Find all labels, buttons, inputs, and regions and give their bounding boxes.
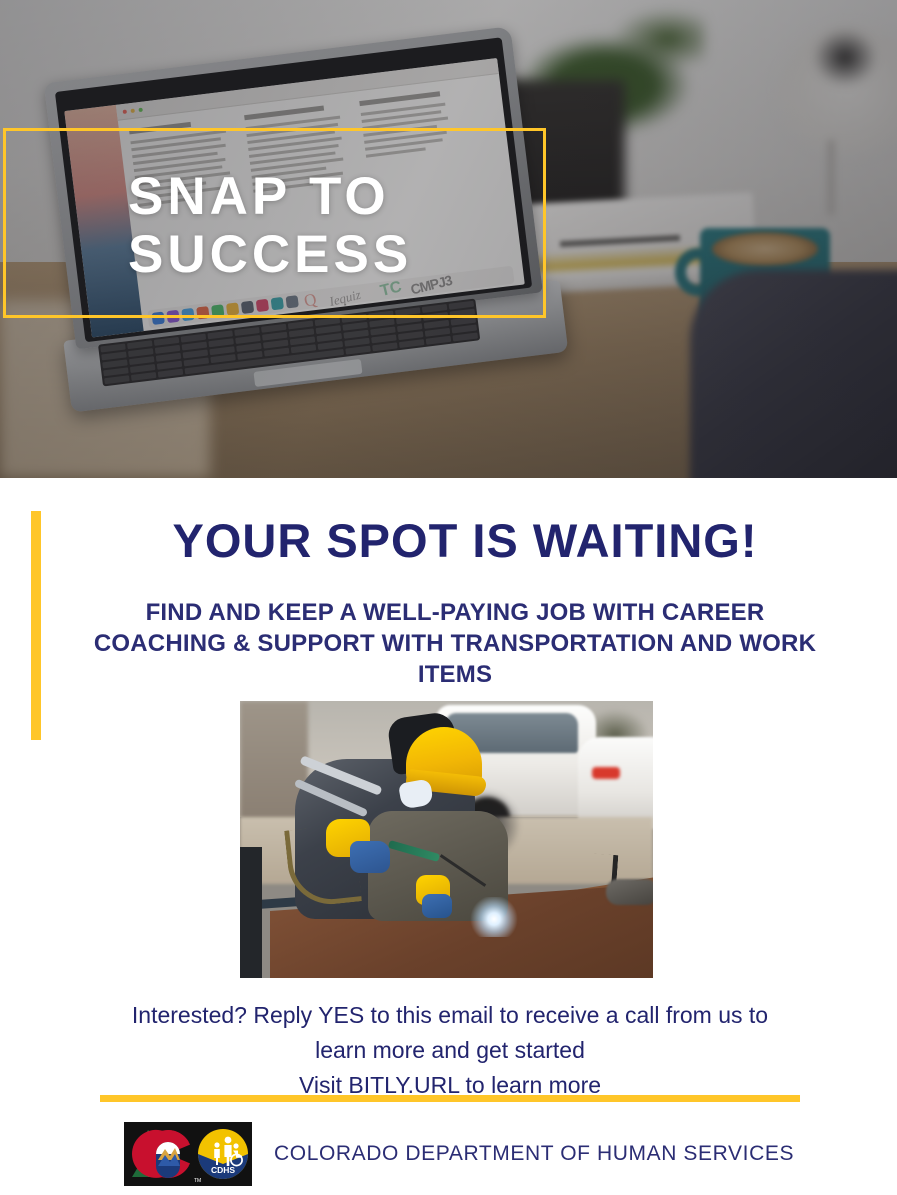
yellow-accent-bar bbox=[31, 511, 41, 740]
welder-photo bbox=[240, 701, 653, 978]
agency-name: COLORADO DEPARTMENT OF HUMAN SERVICES bbox=[274, 1142, 794, 1166]
cdhs-logo: TM CDHS bbox=[124, 1122, 252, 1186]
cdhs-logo-text: CDHS bbox=[211, 1165, 235, 1175]
call-to-action: Interested? Reply YES to this email to r… bbox=[75, 998, 825, 1103]
cta-line-2: learn more and get started bbox=[75, 1033, 825, 1068]
photo-blue-glove bbox=[422, 894, 452, 918]
photo-left-edge-shadow bbox=[240, 847, 262, 978]
hero-title: SNAP TO SUCCESS bbox=[128, 168, 548, 284]
photo-white-car bbox=[578, 737, 653, 829]
cta-line-1: Interested? Reply YES to this email to r… bbox=[75, 998, 825, 1033]
subheadline: FIND AND KEEP A WELL-PAYING JOB WITH CAR… bbox=[85, 597, 825, 690]
cdhs-logo-icon: TM CDHS bbox=[124, 1122, 252, 1186]
photo-car-taillight bbox=[592, 767, 620, 779]
photo-blue-glove bbox=[350, 841, 390, 873]
footer: TM CDHS COLORAD bbox=[124, 1122, 794, 1186]
flyer-page: Q Iequiz TC CMPJ3 bbox=[0, 0, 897, 1195]
photo-welding-spark bbox=[468, 897, 520, 937]
yellow-divider-rule bbox=[100, 1095, 800, 1102]
cdhs-circle-icon: CDHS bbox=[198, 1129, 248, 1179]
hero-banner: Q Iequiz TC CMPJ3 bbox=[0, 0, 897, 478]
hero-title-line1: SNAP TO bbox=[128, 167, 390, 226]
page-title: YOUR SPOT IS WAITING! bbox=[60, 515, 870, 567]
mountain-icon bbox=[156, 1142, 180, 1178]
hero-title-line2: SUCCESS bbox=[128, 226, 548, 284]
photo-tool bbox=[606, 879, 653, 905]
trademark-mark: TM bbox=[194, 1178, 201, 1184]
